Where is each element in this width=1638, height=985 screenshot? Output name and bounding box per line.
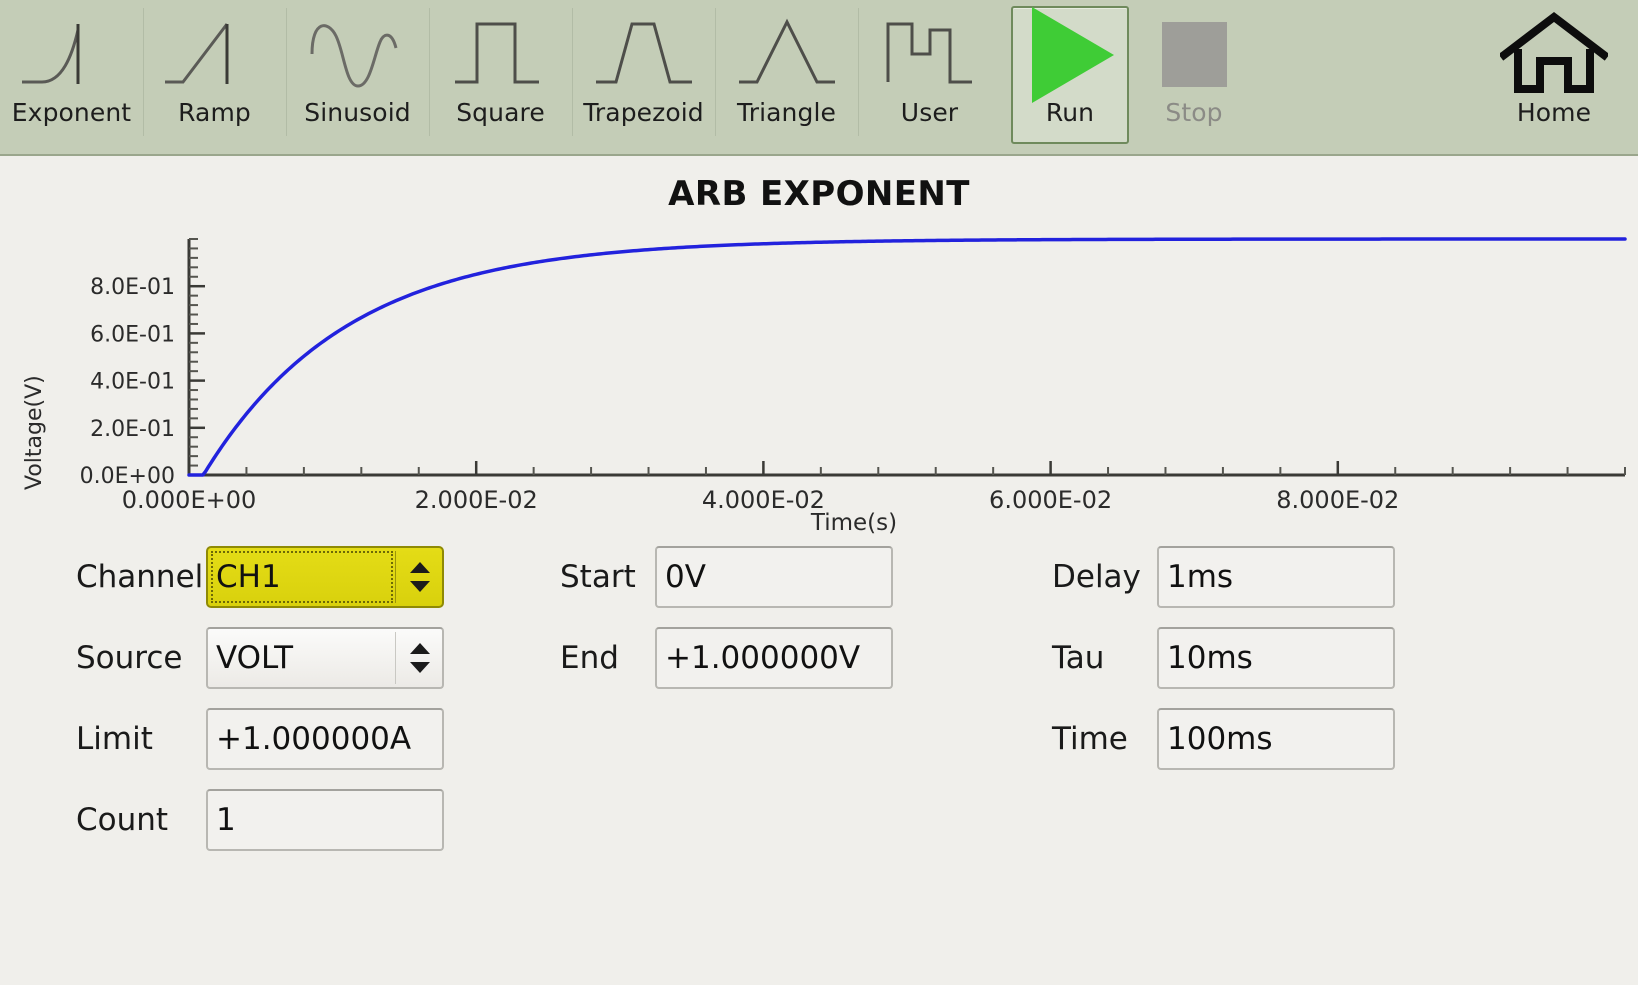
y-tick-label: 6.0E-01: [90, 322, 175, 347]
x-axis-title: Time(s): [0, 510, 1638, 536]
y-tick-label: 8.0E-01: [90, 275, 175, 300]
stop-button-label: Stop: [1165, 100, 1222, 125]
source-value: VOLT: [216, 640, 293, 676]
toolbar-label-exponent: Exponent: [12, 100, 131, 125]
end-label: End: [560, 640, 655, 676]
time-value: 100ms: [1167, 721, 1273, 757]
x-axis-tick-labels: 0.000E+002.000E-024.000E-026.000E-028.00…: [122, 486, 1400, 510]
chart-plot-area: 0.0E+002.0E-014.0E-016.0E-018.0E-01 0.00…: [0, 220, 1638, 510]
start-value: 0V: [665, 559, 706, 595]
count-value: 1: [216, 802, 236, 838]
main-panel: ARB EXPONENT 0.0E+002.0E-014.0E-016.0E-0…: [0, 156, 1638, 985]
tau-input[interactable]: 10ms: [1157, 627, 1395, 689]
start-input[interactable]: 0V: [655, 546, 893, 608]
exponent-curve: [189, 239, 1625, 475]
x-tick-label: 0.000E+00: [122, 486, 257, 510]
toolbar-item-triangle[interactable]: Triangle: [715, 4, 858, 154]
limit-label: Limit: [76, 721, 206, 757]
source-label: Source: [76, 640, 206, 676]
y-tick-label: 2.0E-01: [90, 417, 175, 442]
x-tick-label: 6.000E-02: [989, 486, 1112, 510]
source-select[interactable]: VOLT: [206, 627, 444, 689]
field-row-count: Count 1: [76, 789, 444, 851]
end-value: +1.000000V: [665, 640, 860, 676]
toolbar-item-exponent[interactable]: Exponent: [0, 4, 143, 154]
end-input[interactable]: +1.000000V: [655, 627, 893, 689]
trapezoid-waveform-icon: [588, 10, 700, 98]
toolbar-item-trapezoid[interactable]: Trapezoid: [572, 4, 715, 154]
select-divider: [395, 632, 396, 684]
limit-input[interactable]: +1.000000A: [206, 708, 444, 770]
home-icon: [1500, 10, 1608, 98]
form-column-right: Delay 1ms Tau 10ms Time 100ms: [1052, 546, 1395, 789]
delay-value: 1ms: [1167, 559, 1233, 595]
start-label: Start: [560, 559, 655, 595]
channel-label: Channel: [76, 559, 206, 595]
toolbar-label-square: Square: [456, 100, 545, 125]
exponent-waveform-icon: [16, 10, 128, 98]
toolbar-label-trapezoid: Trapezoid: [583, 100, 704, 125]
spinner-arrows-icon[interactable]: [410, 643, 430, 673]
y-tick-label: 4.0E-01: [90, 370, 175, 395]
triangle-waveform-icon: [731, 10, 843, 98]
time-input[interactable]: 100ms: [1157, 708, 1395, 770]
y-axis-tick-labels: 0.0E+002.0E-014.0E-016.0E-018.0E-01: [80, 275, 175, 489]
count-input[interactable]: 1: [206, 789, 444, 851]
run-button-label: Run: [1046, 100, 1094, 125]
limit-value: +1.000000A: [216, 721, 411, 757]
page-title: ARB EXPONENT: [0, 156, 1638, 214]
toolbar-item-user[interactable]: User: [858, 4, 1001, 154]
field-row-tau: Tau 10ms: [1052, 627, 1395, 689]
y-axis-title: Voltage(V): [22, 375, 47, 490]
waveform-preview-chart: 0.0E+002.0E-014.0E-016.0E-018.0E-01 0.00…: [0, 220, 1638, 540]
form-column-middle: Start 0V End +1.000000V: [560, 546, 893, 708]
toolbar-label-sinusoid: Sinusoid: [304, 100, 410, 125]
channel-select[interactable]: CH1: [206, 546, 444, 608]
toolbar-label-triangle: Triangle: [737, 100, 836, 125]
toolbar-item-ramp[interactable]: Ramp: [143, 4, 286, 154]
sinusoid-waveform-icon: [302, 10, 414, 98]
field-row-channel: Channel CH1: [76, 546, 444, 608]
field-row-limit: Limit +1.000000A: [76, 708, 444, 770]
toolbar-item-square[interactable]: Square: [429, 4, 572, 154]
waveform-toolbar: Exponent Ramp Sinusoid Square: [0, 0, 1638, 156]
spinner-arrows-icon[interactable]: [410, 562, 430, 592]
delay-label: Delay: [1052, 559, 1157, 595]
delay-input[interactable]: 1ms: [1157, 546, 1395, 608]
toolbar-item-sinusoid[interactable]: Sinusoid: [286, 4, 429, 154]
x-tick-label: 8.000E-02: [1276, 486, 1399, 510]
home-button-label: Home: [1517, 100, 1591, 125]
toolbar-label-ramp: Ramp: [178, 100, 251, 125]
field-row-end: End +1.000000V: [560, 627, 893, 689]
user-waveform-icon: [874, 10, 986, 98]
field-row-delay: Delay 1ms: [1052, 546, 1395, 608]
ramp-waveform-icon: [159, 10, 271, 98]
home-button[interactable]: Home: [1482, 4, 1638, 154]
play-icon: [1026, 12, 1114, 98]
channel-value: CH1: [216, 559, 281, 595]
stop-button[interactable]: Stop: [1135, 4, 1253, 154]
tau-label: Tau: [1052, 640, 1157, 676]
field-row-start: Start 0V: [560, 546, 893, 608]
select-divider: [395, 551, 396, 603]
square-waveform-icon: [445, 10, 557, 98]
run-button[interactable]: Run: [1011, 6, 1129, 144]
x-tick-label: 2.000E-02: [415, 486, 538, 510]
count-label: Count: [76, 802, 206, 838]
field-row-source: Source VOLT: [76, 627, 444, 689]
tau-value: 10ms: [1167, 640, 1253, 676]
time-label: Time: [1052, 721, 1157, 757]
stop-icon: [1162, 10, 1227, 98]
form-column-left: Channel CH1 Source VOLT Limit: [76, 546, 444, 870]
toolbar-label-user: User: [901, 100, 958, 125]
x-tick-label: 4.000E-02: [702, 486, 825, 510]
toolbar-spacer: [1253, 4, 1482, 154]
field-row-time: Time 100ms: [1052, 708, 1395, 770]
